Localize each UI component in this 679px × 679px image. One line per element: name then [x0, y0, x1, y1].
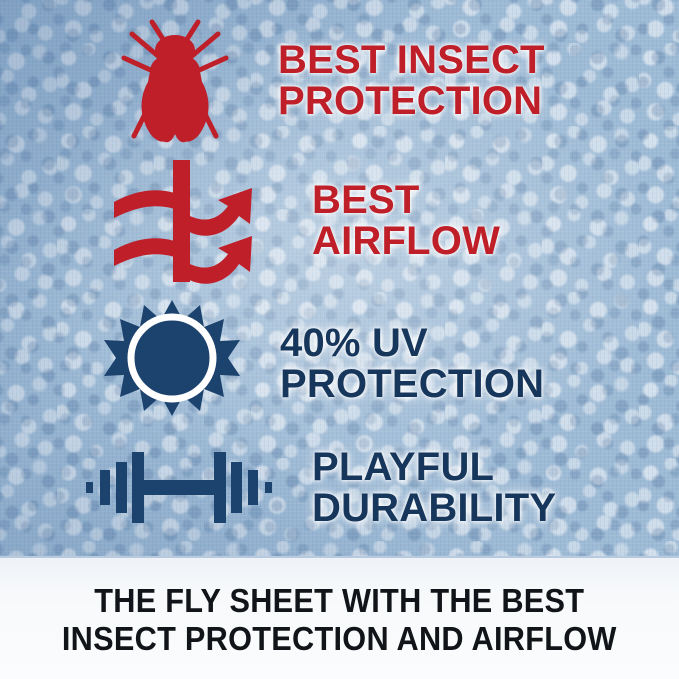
dumbbell-icon-cell	[84, 440, 274, 536]
feature-label-airflow: BEST AIRFLOW	[312, 180, 500, 262]
feature-label-durability: PLAYFUL DURABILITY	[312, 447, 556, 529]
feature-row-uv-protection: 40% UV PROTECTION	[104, 298, 544, 430]
airflow-arrows-icon	[100, 158, 270, 284]
feature-row-airflow: BEST AIRFLOW	[100, 158, 500, 284]
fly-icon	[108, 14, 240, 150]
feature-row-durability: PLAYFUL DURABILITY	[84, 440, 556, 536]
caption-text: THE FLY SHEET WITH THE BEST INSECT PROTE…	[62, 582, 617, 657]
sunburst-icon-cell	[104, 298, 240, 430]
caption-band: THE FLY SHEET WITH THE BEST INSECT PROTE…	[0, 556, 679, 679]
fly-icon-cell	[108, 14, 240, 150]
sunburst-icon	[104, 298, 240, 430]
airflow-icon-cell	[100, 158, 270, 284]
dumbbell-icon	[84, 440, 274, 536]
product-infographic: BEST INSECT PROTECTION BEST AIRFLOW	[0, 0, 679, 679]
feature-label-insect-protection: BEST INSECT PROTECTION	[278, 40, 545, 122]
feature-label-uv-protection: 40% UV PROTECTION	[280, 323, 544, 405]
feature-row-insect-protection: BEST INSECT PROTECTION	[108, 14, 545, 150]
